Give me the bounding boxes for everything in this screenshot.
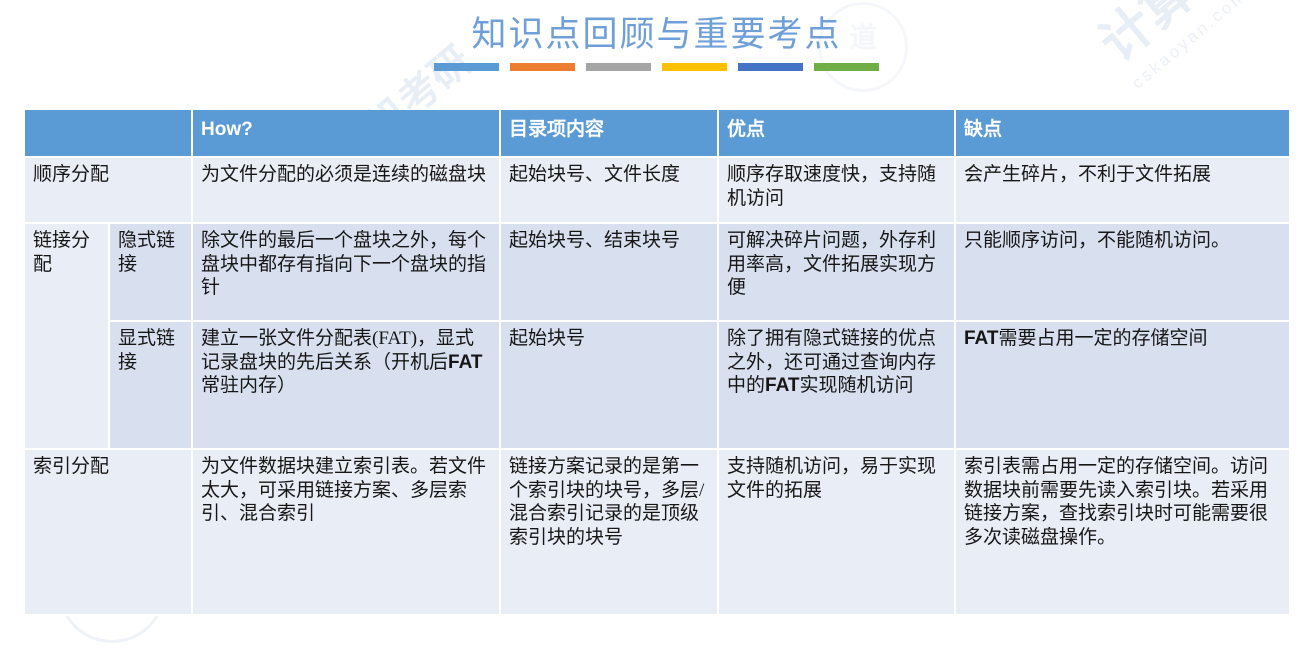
cell-how-indexed: 为文件数据块建立索引表。若文件太大，可采用链接方案、多层索引、混合索引 xyxy=(192,449,500,615)
table-row: 链接分配 隐式链接 除文件的最后一个盘块之外，每个盘块中都存有指向下一个盘块的指… xyxy=(25,223,1289,321)
cell-category-linked: 链接分配 xyxy=(25,223,109,449)
cell-advantages-indexed: 支持随机访问，易于实现文件的拓展 xyxy=(718,449,955,615)
bar-gray xyxy=(586,63,651,71)
cell-advantages-sequential: 顺序存取速度快，支持随机访问 xyxy=(718,157,955,223)
cell-disadvantages-sequential: 会产生碎片，不利于文件拓展 xyxy=(955,157,1289,223)
cell-category-indexed: 索引分配 xyxy=(25,449,192,615)
bar-blue-light xyxy=(434,63,499,71)
cell-directory-explicit: 起始块号 xyxy=(500,321,718,449)
header-cell-disadvantages: 缺点 xyxy=(955,110,1289,157)
title-block: 知识点回顾与重要考点 xyxy=(0,14,1313,71)
page-title: 知识点回顾与重要考点 xyxy=(0,14,1313,56)
header-cell-category xyxy=(25,110,192,157)
cell-how-implicit: 除文件的最后一个盘块之外，每个盘块中都存有指向下一个盘块的指针 xyxy=(192,223,500,321)
cell-disadvantages-indexed: 索引表需占用一定的存储空间。访问数据块前需要先读入索引块。若采用链接方案，查找索… xyxy=(955,449,1289,615)
how-explicit-part1: 建立一张文件分配表(FAT)，显式记录盘块的先后关系（开机后 xyxy=(201,328,474,373)
table-header-row: How? 目录项内容 优点 缺点 xyxy=(25,110,1289,157)
bar-gold xyxy=(662,63,727,71)
dis-explicit-fat: FAT xyxy=(964,328,998,349)
cell-directory-implicit: 起始块号、结束块号 xyxy=(500,223,718,321)
cell-advantages-explicit: 除了拥有隐式链接的优点之外，还可通过查询内存中的FAT实现随机访问 xyxy=(718,321,955,449)
dis-explicit-rest: 需要占用一定的存储空间 xyxy=(998,328,1207,349)
adv-explicit-part2: 实现随机访问 xyxy=(800,375,914,396)
bar-blue-dark xyxy=(738,63,803,71)
cell-category-sequential: 顺序分配 xyxy=(25,157,192,223)
cell-subcategory-explicit: 显式链接 xyxy=(109,321,192,449)
allocation-methods-table: How? 目录项内容 优点 缺点 顺序分配 为文件分配的必须是连续的磁盘块 起始… xyxy=(25,110,1289,616)
how-explicit-fat: FAT xyxy=(448,352,482,373)
header-cell-how: How? xyxy=(192,110,500,157)
cell-subcategory-implicit: 隐式链接 xyxy=(109,223,192,321)
accent-bar-group xyxy=(0,63,1313,71)
cell-disadvantages-implicit: 只能顺序访问，不能随机访问。 xyxy=(955,223,1289,321)
cell-directory-indexed: 链接方案记录的是第一个索引块的块号，多层/混合索引记录的是顶级索引块的块号 xyxy=(500,449,718,615)
header-cell-advantages: 优点 xyxy=(718,110,955,157)
cell-disadvantages-explicit: FAT需要占用一定的存储空间 xyxy=(955,321,1289,449)
table-row: 索引分配 为文件数据块建立索引表。若文件太大，可采用链接方案、多层索引、混合索引… xyxy=(25,449,1289,615)
adv-explicit-fat: FAT xyxy=(765,375,799,396)
how-explicit-part2: 常驻内存） xyxy=(201,375,296,396)
cell-how-sequential: 为文件分配的必须是连续的磁盘块 xyxy=(192,157,500,223)
header-cell-directory-entry: 目录项内容 xyxy=(500,110,718,157)
cell-directory-sequential: 起始块号、文件长度 xyxy=(500,157,718,223)
table-row: 顺序分配 为文件分配的必须是连续的磁盘块 起始块号、文件长度 顺序存取速度快，支… xyxy=(25,157,1289,223)
cell-advantages-implicit: 可解决碎片问题，外存利用率高，文件拓展实现方便 xyxy=(718,223,955,321)
cell-how-explicit: 建立一张文件分配表(FAT)，显式记录盘块的先后关系（开机后FAT常驻内存） xyxy=(192,321,500,449)
bar-orange xyxy=(510,63,575,71)
table-row: 显式链接 建立一张文件分配表(FAT)，显式记录盘块的先后关系（开机后FAT常驻… xyxy=(25,321,1289,449)
bar-green xyxy=(814,63,879,71)
